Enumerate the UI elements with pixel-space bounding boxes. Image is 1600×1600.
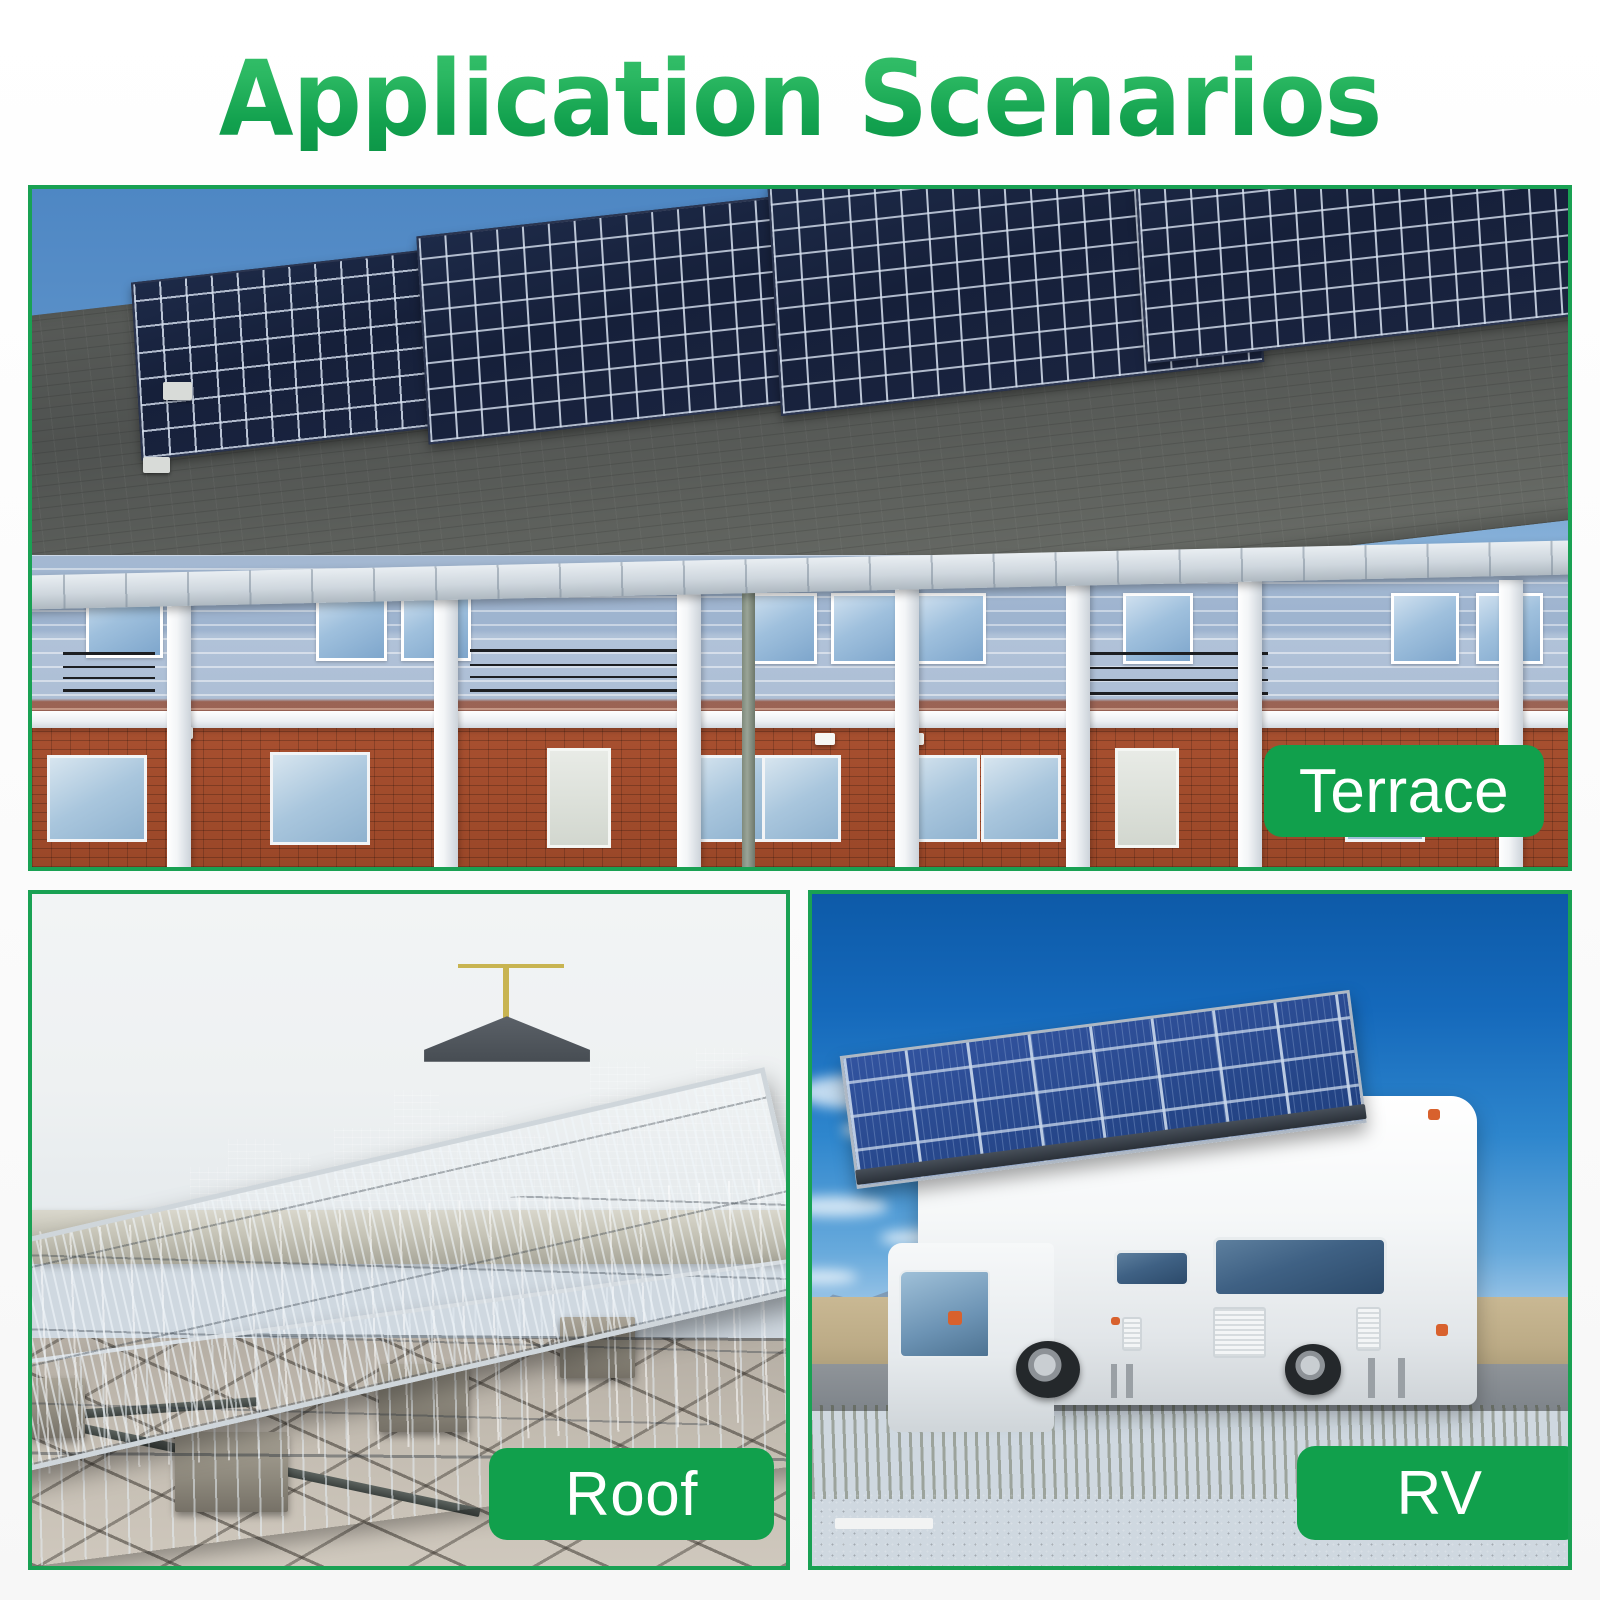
entry-door: [547, 748, 612, 848]
scenario-card-roof[interactable]: Roof: [28, 890, 790, 1570]
balcony-railing: [63, 652, 155, 692]
rv-large-window: [1213, 1237, 1387, 1297]
support-column: [434, 580, 458, 867]
rv-side-vent: [1122, 1317, 1142, 1351]
roof-vent: [143, 457, 171, 473]
upper-window: [831, 593, 902, 665]
rooftop-hut: [424, 1016, 590, 1061]
balcony-railing: [470, 649, 677, 692]
lower-window: [270, 752, 370, 846]
stabilizer-jack: [1368, 1358, 1376, 1398]
rv-front-wheel: [1016, 1341, 1080, 1398]
wall-lamp: [815, 733, 835, 745]
badge-roof-label: Roof: [565, 1459, 698, 1530]
lower-window: [981, 755, 1061, 842]
support-column: [167, 580, 191, 867]
support-column: [1066, 580, 1090, 867]
scenario-card-terrace[interactable]: Terrace: [28, 185, 1572, 871]
stabilizer-jack: [1111, 1364, 1118, 1398]
scenario-grid: Terrace: [28, 185, 1572, 1570]
lane-marking: [835, 1518, 933, 1529]
support-column: [895, 580, 919, 867]
badge-roof[interactable]: Roof: [489, 1448, 774, 1540]
badge-rv[interactable]: RV: [1297, 1446, 1572, 1540]
floor-divider-band: [32, 711, 1568, 728]
rv-windshield: [899, 1270, 990, 1357]
utility-pole: [742, 574, 756, 867]
entry-door: [1115, 748, 1180, 848]
roof-vent: [163, 382, 192, 400]
upper-window: [746, 593, 817, 665]
rv-marker-light: [1111, 1317, 1120, 1325]
upper-window: [1391, 593, 1459, 665]
stabilizer-jack: [1398, 1358, 1406, 1398]
rv-marker-light: [948, 1311, 962, 1326]
rv-storage-vent: [1213, 1307, 1266, 1357]
rv-marker-light: [1436, 1324, 1448, 1336]
badge-terrace-label: Terrace: [1299, 756, 1509, 827]
stabilizer-jack: [1126, 1364, 1133, 1398]
support-column: [677, 580, 701, 867]
rv-rear-wheel: [1285, 1344, 1342, 1394]
lower-window: [762, 755, 842, 842]
scenario-card-rv[interactable]: RV: [808, 890, 1572, 1570]
construction-crane-jib: [458, 964, 564, 968]
badge-terrace[interactable]: Terrace: [1264, 745, 1544, 837]
page-title-container: Application Scenarios: [0, 34, 1600, 164]
support-column: [1238, 580, 1262, 867]
lower-window: [47, 755, 147, 842]
page-title: Application Scenarios: [219, 47, 1382, 151]
rv-marker-light: [1428, 1109, 1440, 1120]
badge-rv-label: RV: [1396, 1458, 1482, 1529]
solar-panel-row: [1133, 189, 1568, 364]
rv-access-panel: [1356, 1307, 1380, 1351]
rv-small-window: [1114, 1250, 1190, 1287]
upper-window: [915, 593, 986, 665]
infographic-page: Application Scenarios: [0, 0, 1600, 1600]
